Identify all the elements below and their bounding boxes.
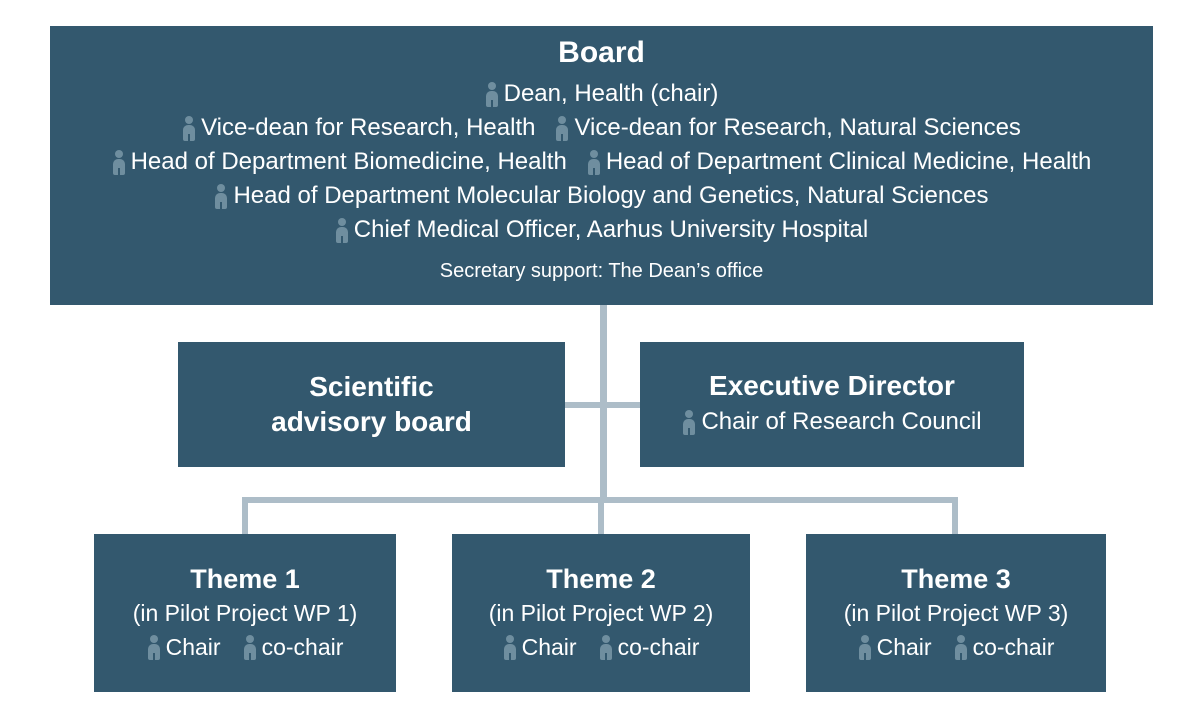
board-member-label: Head of Department Biomedicine, Health [131, 145, 567, 179]
org-chart: Board Dean, Health (chair) Vice-dean for… [0, 0, 1200, 719]
theme-1-node: Theme 1 (in Pilot Project WP 1) Chair co… [94, 534, 396, 692]
person-icon [599, 634, 613, 660]
person-icon [214, 183, 228, 209]
board-member: Head of Department Biomedicine, Health [112, 145, 567, 179]
executive-director-node: Executive Director Chair of Research Cou… [640, 342, 1024, 467]
person-icon [682, 409, 696, 435]
board-member-label: Dean, Health (chair) [504, 77, 719, 111]
board-member-label: Vice-dean for Research, Natural Sciences [574, 111, 1020, 145]
board-member: Head of Department Molecular Biology and… [214, 179, 988, 213]
person-icon [503, 634, 517, 660]
board-member-row-1: Dean, Health (chair) [485, 77, 719, 111]
theme-2-chair: Chair [503, 631, 577, 664]
theme-1-subtitle: (in Pilot Project WP 1) [133, 599, 358, 628]
scientific-advisory-board-title: Scientific advisory board [271, 370, 472, 438]
executive-director-member-label: Chair of Research Council [701, 405, 981, 439]
person-icon [485, 81, 499, 107]
theme-1-chair: Chair [147, 631, 221, 664]
theme-3-subtitle: (in Pilot Project WP 3) [844, 599, 1069, 628]
person-icon [243, 634, 257, 660]
connector-drop-theme-1 [242, 497, 248, 537]
executive-director-title: Executive Director [709, 370, 955, 402]
board-member-label: Vice-dean for Research, Health [201, 111, 535, 145]
theme-3-title: Theme 3 [901, 564, 1011, 595]
theme-3-chair: Chair [858, 631, 932, 664]
person-icon [555, 115, 569, 141]
person-icon [858, 634, 872, 660]
person-icon [954, 634, 968, 660]
board-member: Dean, Health (chair) [485, 77, 719, 111]
theme-3-co-chair-label: co-chair [973, 631, 1055, 664]
board-member-label: Head of Department Clinical Medicine, He… [606, 145, 1092, 179]
board-member-row-4: Head of Department Molecular Biology and… [214, 179, 988, 213]
board-member-label: Head of Department Molecular Biology and… [233, 179, 988, 213]
theme-2-role-row: Chair co-chair [503, 631, 700, 664]
theme-2-chair-label: Chair [522, 631, 577, 664]
theme-1-co-chair-label: co-chair [262, 631, 344, 664]
board-secretary-support: Secretary support: The Dean’s office [440, 259, 764, 283]
scientific-advisory-board-title-line-2: advisory board [271, 405, 472, 439]
person-icon [335, 217, 349, 243]
person-icon [587, 149, 601, 175]
person-icon [182, 115, 196, 141]
theme-1-title: Theme 1 [190, 564, 300, 595]
board-member: Head of Department Clinical Medicine, He… [587, 145, 1092, 179]
theme-1-co-chair: co-chair [243, 631, 344, 664]
board-member-row-2: Vice-dean for Research, Health Vice-dean… [182, 111, 1021, 145]
theme-2-co-chair-label: co-chair [618, 631, 700, 664]
board-member-row-3: Head of Department Biomedicine, Health H… [112, 145, 1092, 179]
scientific-advisory-board-title-line-1: Scientific [271, 370, 472, 404]
theme-3-chair-label: Chair [877, 631, 932, 664]
connector-drop-theme-3 [952, 497, 958, 537]
person-icon [147, 634, 161, 660]
theme-2-co-chair: co-chair [599, 631, 700, 664]
board-member-label: Chief Medical Officer, Aarhus University… [354, 213, 868, 247]
scientific-advisory-board-node: Scientific advisory board [178, 342, 565, 467]
theme-3-role-row: Chair co-chair [858, 631, 1055, 664]
theme-3-node: Theme 3 (in Pilot Project WP 3) Chair co… [806, 534, 1106, 692]
person-icon [112, 149, 126, 175]
connector-drop-theme-2 [598, 497, 604, 537]
board-member: Vice-dean for Research, Health [182, 111, 535, 145]
theme-2-node: Theme 2 (in Pilot Project WP 2) Chair co… [452, 534, 750, 692]
theme-2-title: Theme 2 [546, 564, 656, 595]
theme-3-co-chair: co-chair [954, 631, 1055, 664]
board-member: Chief Medical Officer, Aarhus University… [335, 213, 868, 247]
board-title: Board [558, 36, 645, 71]
connector-midrow-to-themes [600, 405, 607, 503]
board-node: Board Dean, Health (chair) Vice-dean for… [50, 26, 1153, 305]
board-member: Vice-dean for Research, Natural Sciences [555, 111, 1020, 145]
board-member-row-5: Chief Medical Officer, Aarhus University… [335, 213, 868, 247]
executive-director-member-row: Chair of Research Council [682, 405, 981, 439]
theme-1-chair-label: Chair [166, 631, 221, 664]
executive-director-member: Chair of Research Council [682, 405, 981, 439]
theme-2-subtitle: (in Pilot Project WP 2) [489, 599, 714, 628]
connector-board-to-midrow [600, 305, 607, 405]
theme-1-role-row: Chair co-chair [147, 631, 344, 664]
